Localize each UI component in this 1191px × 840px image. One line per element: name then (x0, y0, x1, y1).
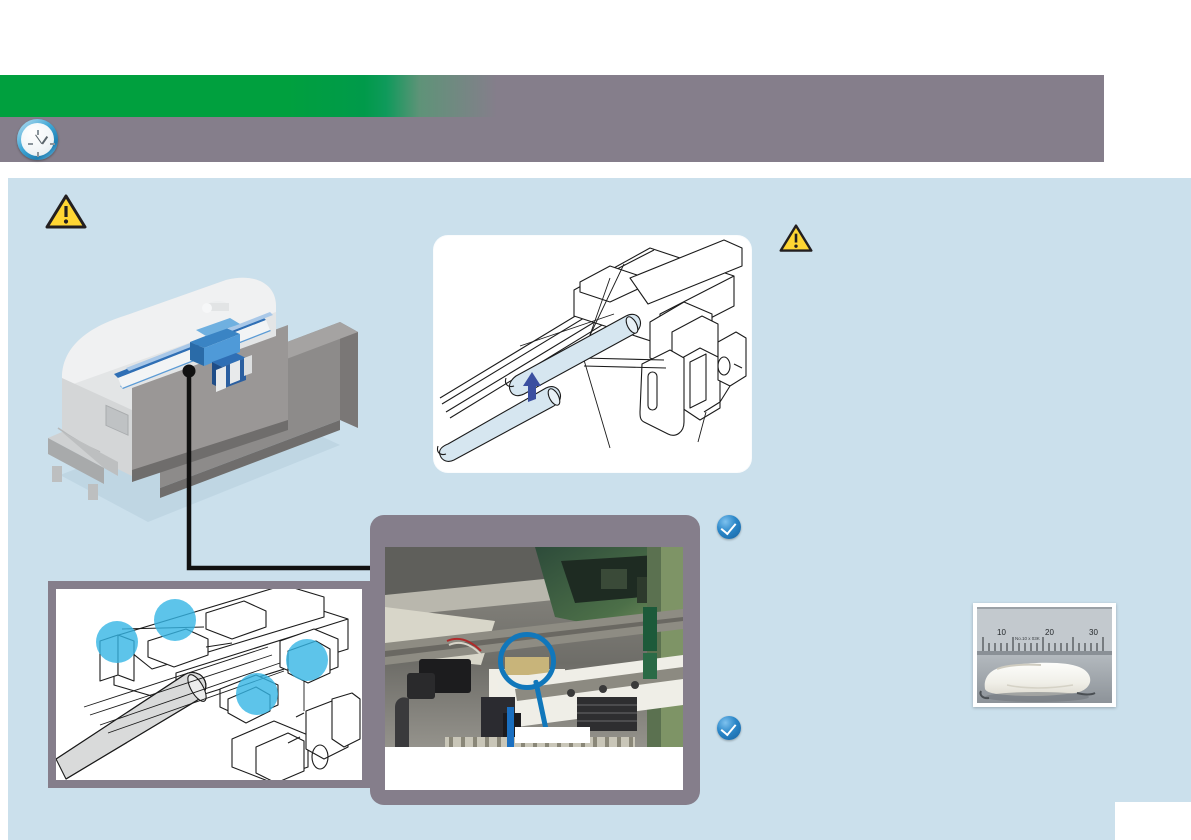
clock-tick-12 (37, 130, 39, 135)
magnifier-circle-icon (498, 632, 556, 690)
document-page: 10 20 30 No.10 x 03K (0, 0, 1191, 840)
clock-face (21, 123, 54, 156)
highlight-diagram-image (56, 589, 362, 780)
highlight-diagram-figure (48, 581, 370, 788)
photo-caption-strip (385, 747, 683, 790)
highlight-marker-3 (236, 673, 278, 715)
clock-tick-6 (37, 152, 39, 157)
check-badge-icon-2 (717, 716, 741, 740)
highlight-marker-1 (96, 621, 138, 663)
highlight-marker-4 (286, 639, 328, 681)
svg-text:30: 30 (1089, 628, 1098, 637)
svg-text:No.10 x 03K: No.10 x 03K (1015, 636, 1040, 641)
photo-callout-label (515, 727, 590, 743)
page-title (70, 128, 770, 154)
ruler-photo-image: 10 20 30 No.10 x 03K (977, 607, 1112, 703)
detail-diagram-figure (434, 236, 751, 472)
installation-photo-image (385, 547, 683, 759)
ruler-photo-figure: 10 20 30 No.10 x 03K (973, 603, 1116, 707)
clock-minute-hand (35, 134, 42, 144)
clock-tick-3 (50, 143, 55, 145)
installation-photo-figure (370, 515, 700, 805)
svg-text:20: 20 (1045, 628, 1054, 637)
check-badge-icon-1 (717, 515, 741, 539)
clock-tick-9 (28, 143, 33, 145)
highlight-marker-2 (154, 599, 196, 641)
clock-icon (17, 119, 58, 160)
header-subtitle (430, 84, 1090, 108)
panel-corner-notch (1115, 802, 1191, 840)
svg-text:10: 10 (997, 628, 1006, 637)
